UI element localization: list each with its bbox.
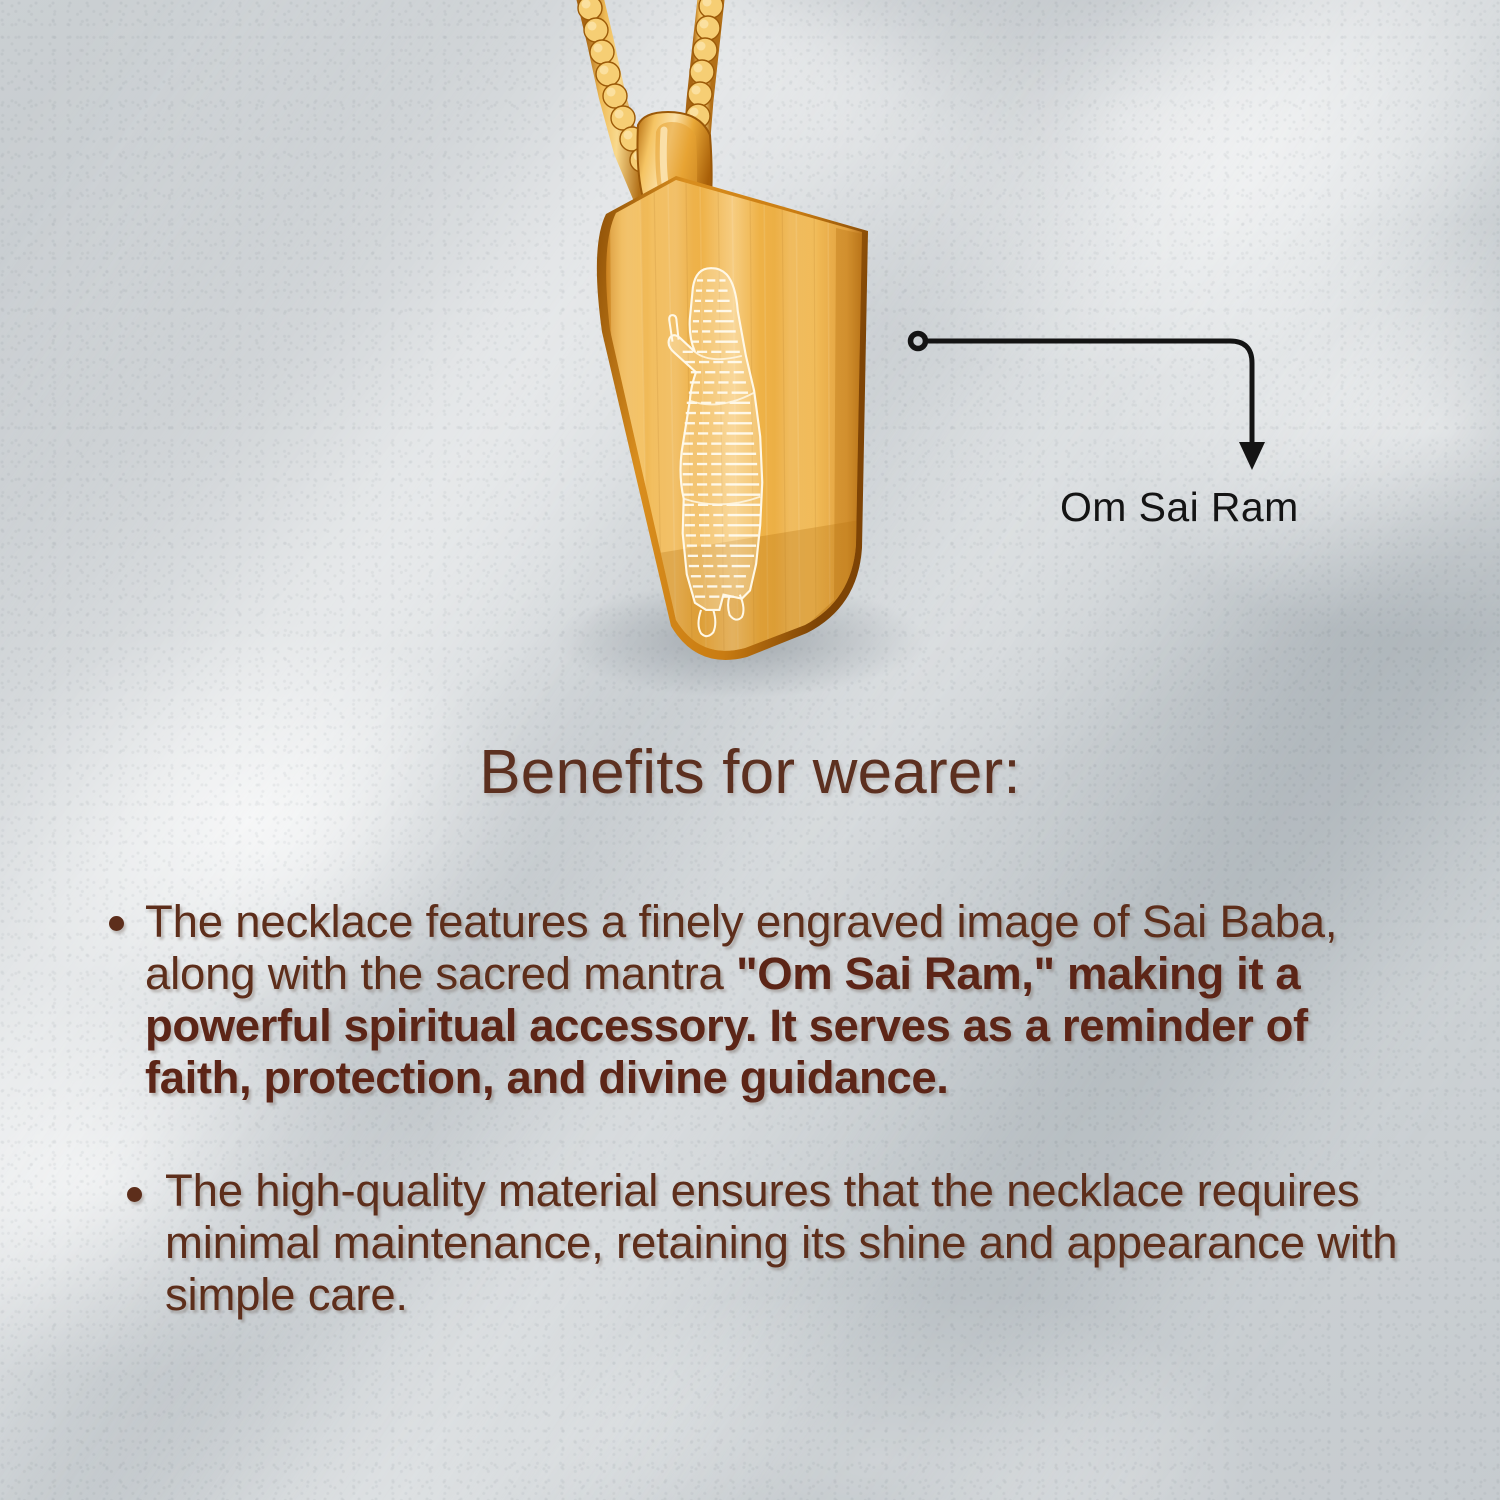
infographic-page: Om Sai Ram Benefits for wearer: The neck… [0,0,1500,1500]
callout-anchor-circle [911,334,926,349]
benefit-item-1: The necklace features a finely engraved … [145,878,1425,1103]
callout-label: Om Sai Ram [1060,484,1299,531]
benefit-item-2: The high-quality material ensures that t… [165,1165,1400,1321]
benefit-1-text: The necklace features a finely engraved … [145,896,1337,1103]
callout-arrowhead [1239,442,1265,470]
callout-line [926,341,1252,450]
benefit-2-text: The high-quality material ensures that t… [165,1165,1397,1320]
callout-annotation [880,300,1340,500]
benefits-section: Benefits for wearer: The necklace featur… [0,742,1500,1321]
page-title: Benefits for wearer: [0,742,1500,804]
benefits-list: The necklace features a finely engraved … [0,878,1500,1321]
